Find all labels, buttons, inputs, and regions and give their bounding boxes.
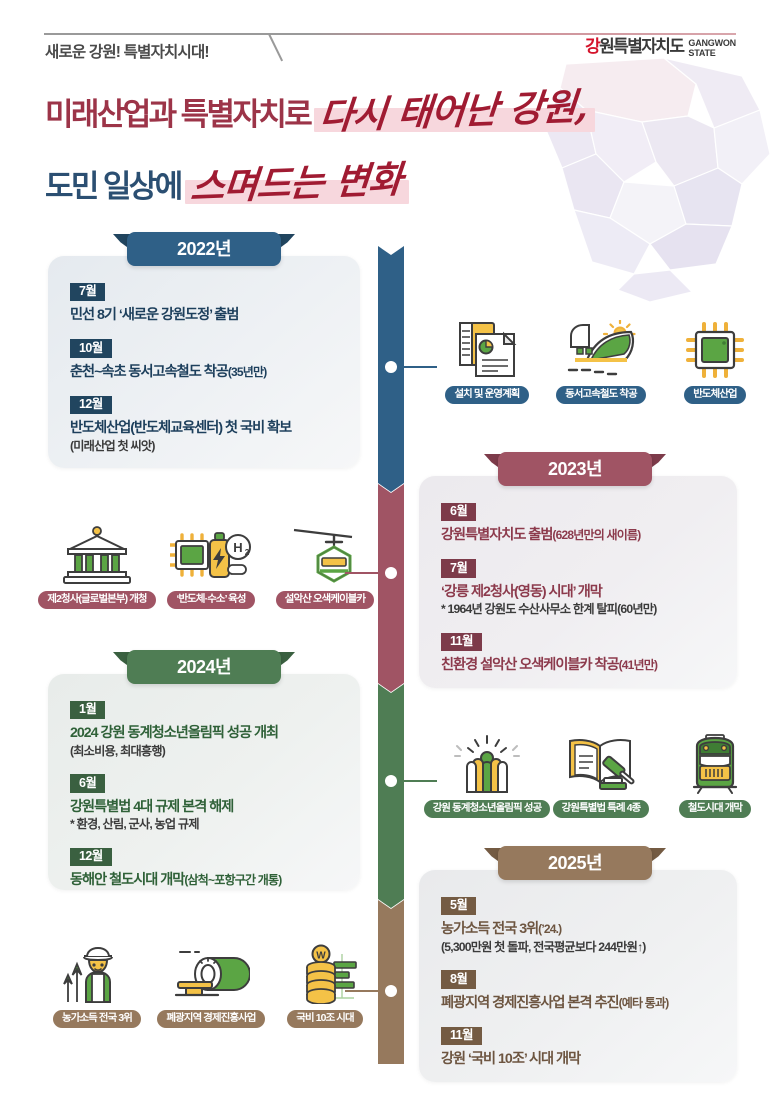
entry-text-main: 농가소득 전국 3위 [441,921,538,937]
entry-note: * 1964년 강원도 수산사무소 한계 탈피(60년만) [441,602,715,618]
icon-label: 폐광지역 경제진흥사업 [157,1010,264,1028]
entry-note: (미래산업 첫 씨앗) [70,439,338,455]
entry-text-main: ‘강릉 제2청사(영동) 시대’ 개막 [441,584,602,600]
timeline-entry: 6월강원특별자치도 출범(628년만의 새이름) [441,502,715,545]
year-label: 2022년 [177,240,231,258]
icon-cell: 강원 동계청소년올림픽 성공 [437,732,537,818]
banner-body: 2025년 [498,846,652,880]
icon-label: 설악산 오색케이블카 [276,591,374,609]
entry-text: ‘강릉 제2청사(영동) 시대’ 개막 [441,583,715,602]
spine-segment-y2024 [378,684,404,908]
timeline-node-y2025 [385,985,397,997]
entry-text: 강원 ‘국비 10조’ 시대 개막 [441,1050,715,1069]
month-badge: 7월 [441,559,476,578]
law-book-gavel-icon [564,732,638,794]
icon-label: 철도시대 개막 [679,800,751,818]
icon-label: 강원 동계청소년올림픽 성공 [424,800,551,818]
header-tagline: 새로운 강원! 특별자치시대! [45,40,209,62]
entry-note: (5,300만원 첫 돌파, 전국평균보다 244만원↑) [441,940,715,956]
headline: 미래산업과 특별자치로 다시 태어난 강원, 도민 일상에 스며드는 변화 [45,72,745,202]
document-plan-icon [456,318,518,380]
icon-group-y2022: 설치 및 운영계획 동서고속철도 착공 반도체산업 [437,318,765,404]
timeline-entry: 12월동해안 철도시대 개막(삼척~포항구간 개통) [70,847,338,890]
entry-text-sub: (’24.) [538,922,561,936]
high-speed-train-icon [565,318,637,380]
headline-line1-script-wrap: 다시 태어난 강원, [320,93,587,130]
timeline-node-y2022 [385,361,397,373]
timeline-node-y2024 [385,775,397,787]
timeline-node-y2023 [385,567,397,579]
entry-text-sub: (41년만) [619,658,658,672]
svg-text:2: 2 [245,548,250,557]
timeline-entry: 11월강원 ‘국비 10조’ 시대 개막 [441,1026,715,1069]
entry-note: (최소비용, 최대흥행) [70,744,338,760]
entry-text-main: 강원특별법 4대 규제 본격 해제 [70,799,233,815]
entry-text: 민선 8기 ‘새로운 강원도정’ 출범 [70,306,338,325]
entry-text-main: 민선 8기 ‘새로운 강원도정’ 출범 [70,307,238,323]
icon-group-y2025: 농가소득 전국 3위 폐광지역 경제진흥사업 W 국비 10조 시대 [47,942,375,1028]
logo-korean-rest: 원특별자치도 [599,37,683,56]
year-banner-y2025: 2025년 [484,846,666,880]
coin-stack-chart-icon: W [292,942,358,1004]
entry-note: * 환경, 산림, 군사, 농업 규제 [70,817,338,833]
headline-line2-print: 도민 일상에 [45,171,181,202]
entry-text: 동해안 철도시대 개막(삼척~포항구간 개통) [70,871,338,890]
logo-accent-char: 강 [585,37,599,56]
mri-scanner-icon [172,942,250,1004]
timeline-entry: 5월농가소득 전국 3위(’24.)(5,300만원 첫 돌파, 전국평균보다 … [441,896,715,956]
timeline-connector-y2024 [391,780,437,782]
icon-label: 국비 10조 시대 [287,1010,362,1028]
year-banner-y2022: 2022년 [113,232,295,266]
headline-line2-script: 스며드는 변화 [189,161,403,206]
banner-body: 2022년 [127,232,281,266]
timeline-entry: 7월‘강릉 제2청사(영동) 시대’ 개막* 1964년 강원도 수산사무소 한… [441,559,715,619]
gangwon-state-logo: 강원특별자치도 GANGWON STATE [585,38,736,58]
month-badge: 1월 [70,701,105,720]
icon-label: 농가소득 전국 3위 [53,1010,141,1028]
farmer-growth-icon [62,942,132,1004]
icon-cell: 설치 및 운영계획 [437,318,537,404]
icon-cell: 농가소득 전국 3위 [47,942,147,1028]
entry-text: 춘천~속초 동서고속철도 착공(35년만) [70,363,338,382]
month-badge: 6월 [70,774,105,793]
entry-text-sub: (삼척~포항구간 개통) [184,873,281,887]
icon-group-y2024: 강원 동계청소년올림픽 성공 강원특별법 특례 4종 철도시대 개막 [437,732,765,818]
timeline-spine [378,246,404,1064]
entry-text-main: 동해안 철도시대 개막 [70,872,184,888]
entry-text: 반도체산업(반도체교육센터) 첫 국비 확보 [70,419,338,438]
icon-cell: 반도체산업 [665,318,765,404]
icon-cell: 강원특별법 특례 4종 [551,732,651,818]
month-badge: 10월 [70,339,112,358]
entry-text: 친환경 설악산 오색케이블카 착공(41년만) [441,656,715,675]
entry-text: 폐광지역 경제진흥사업 본격 추진(예타 통과) [441,994,715,1013]
icon-cell: 설악산 오색케이블카 [275,523,375,609]
cheering-hands-icon [451,732,523,794]
year-panel-y2023: 6월강원특별자치도 출범(628년만의 새이름)7월‘강릉 제2청사(영동) 시… [419,476,737,688]
month-badge: 7월 [70,283,105,302]
icon-cell: W 국비 10조 시대 [275,942,375,1028]
month-badge: 12월 [70,848,112,867]
entry-text-main: 2024 강원 동계청소년올림픽 성공 개최 [70,725,278,741]
headline-line1-script: 다시 태어난 강원, [318,88,589,135]
semiconductor-chip-icon [684,318,746,380]
spine-segment-y2023 [378,484,404,692]
icon-cell: 철도시대 개막 [665,732,765,818]
svg-text:W: W [316,951,326,962]
entry-text-sub: (628년만의 새이름) [552,528,640,542]
entry-text-main: 춘천~속초 동서고속철도 착공 [70,364,228,380]
month-badge: 5월 [441,897,476,916]
headline-line-2: 도민 일상에 스며드는 변화 [45,144,745,202]
chip-hydrogen-icon: H 2 [170,523,252,585]
timeline-entry: 12월반도체산업(반도체교육센터) 첫 국비 확보(미래산업 첫 씨앗) [70,395,338,455]
svg-text:H: H [233,540,242,555]
entry-text-main: 친환경 설악산 오색케이블카 착공 [441,657,619,673]
government-building-icon [62,523,132,585]
year-panel-y2025: 5월농가소득 전국 3위(’24.)(5,300만원 첫 돌파, 전국평균보다 … [419,870,737,1082]
month-badge: 11월 [441,1027,482,1046]
entry-text-sub: (예타 통과) [619,996,669,1010]
year-banner-y2024: 2024년 [113,650,295,684]
year-label: 2024년 [177,658,231,676]
infographic-page: 새로운 강원! 특별자치시대! 강원특별자치도 GANGWON STATE [0,0,780,1103]
timeline-entry: 1월2024 강원 동계청소년올림픽 성공 개최(최소비용, 최대흥행) [70,700,338,760]
entry-text: 2024 강원 동계청소년올림픽 성공 개최 [70,724,338,743]
year-label: 2025년 [548,854,602,872]
header-rule [44,33,736,35]
entry-text-sub: (35년만) [228,365,267,379]
icon-label: 제2청사(글로벌본부) 개청 [38,591,155,609]
logo-english-text: GANGWON STATE [688,38,736,58]
entry-text-main: 강원 ‘국비 10조’ 시대 개막 [441,1051,580,1067]
timeline-connector-y2022 [391,366,437,368]
train-front-icon [686,732,744,794]
icon-label: 반도체산업 [684,386,746,404]
year-banner-y2023: 2023년 [484,452,666,486]
icon-cell: 폐광지역 경제진흥사업 [161,942,261,1028]
banner-body: 2024년 [127,650,281,684]
spine-segment-y2025 [378,900,404,1064]
headline-line1-print: 미래산업과 특별자치로 [45,99,310,130]
timeline-entry: 10월춘천~속초 동서고속철도 착공(35년만) [70,339,338,382]
year-panel-y2022: 7월민선 8기 ‘새로운 강원도정’ 출범10월춘천~속초 동서고속철도 착공(… [48,256,360,468]
entry-text-main: 폐광지역 경제진흥사업 본격 추진 [441,995,619,1011]
banner-body: 2023년 [498,452,652,486]
timeline-entry: 11월친환경 설악산 오색케이블카 착공(41년만) [441,632,715,675]
icon-group-y2023: 제2청사(글로벌본부) 개청 H 2 ‘반도체·수소’ 육성 설악산 오색케이블… [47,523,375,609]
icon-cell: 제2청사(글로벌본부) 개청 [47,523,147,609]
timeline-entry: 8월폐광지역 경제진흥사업 본격 추진(예타 통과) [441,970,715,1013]
entry-text: 강원특별자치도 출범(628년만의 새이름) [441,526,715,545]
headline-line2-script-wrap: 스며드는 변화 [191,165,401,202]
month-badge: 11월 [441,633,482,652]
entry-text-main: 반도체산업(반도체교육센터) 첫 국비 확보 [70,420,291,436]
header: 새로운 강원! 특별자치시대! 강원특별자치도 GANGWON STATE [0,0,780,215]
logo-korean-text: 강원특별자치도 [585,38,683,55]
headline-line-1: 미래산업과 특별자치로 다시 태어난 강원, [45,72,745,130]
icon-cell: 동서고속철도 착공 [551,318,651,404]
header-slash-divider [268,34,283,62]
icon-label: 강원특별법 특례 4종 [553,800,650,818]
month-badge: 12월 [70,396,112,415]
icon-label: 동서고속철도 착공 [556,386,646,404]
cable-car-icon [292,523,358,585]
entry-text-main: 강원특별자치도 출범 [441,527,552,543]
month-badge: 8월 [441,970,476,989]
entry-text: 농가소득 전국 3위(’24.) [441,920,715,939]
entry-text: 강원특별법 4대 규제 본격 해제 [70,798,338,817]
timeline-entry: 7월민선 8기 ‘새로운 강원도정’ 출범 [70,282,338,325]
icon-cell: H 2 ‘반도체·수소’ 육성 [161,523,261,609]
timeline-entry: 6월강원특별법 4대 규제 본격 해제* 환경, 산림, 군사, 농업 규제 [70,774,338,834]
icon-label: ‘반도체·수소’ 육성 [167,591,254,609]
icon-label: 설치 및 운영계획 [445,386,528,404]
month-badge: 6월 [441,503,476,522]
year-panel-y2024: 1월2024 강원 동계청소년올림픽 성공 개최(최소비용, 최대흥행)6월강원… [48,674,360,890]
year-label: 2023년 [548,460,602,478]
